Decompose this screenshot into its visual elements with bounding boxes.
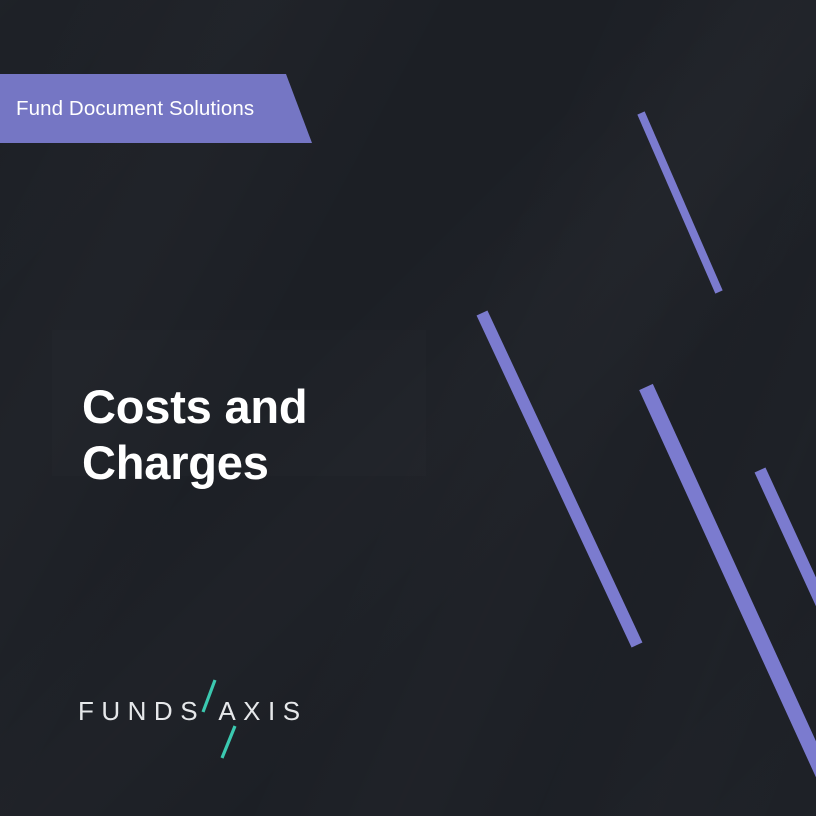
stripe-1 bbox=[641, 113, 719, 292]
presentation-slide: Fund Document Solutions Costs and Charge… bbox=[0, 0, 816, 816]
funds-axis-logo: FUNDS AXIS bbox=[78, 668, 378, 760]
teal-slash-upper bbox=[203, 680, 215, 712]
tagline-banner: Fund Document Solutions bbox=[0, 74, 312, 143]
logo-teal-slash-icon bbox=[78, 668, 378, 760]
slide-title: Costs and Charges bbox=[82, 379, 512, 491]
stripe-4 bbox=[760, 470, 816, 655]
tagline-banner-label: Fund Document Solutions bbox=[0, 97, 254, 121]
stripe-3 bbox=[646, 387, 816, 790]
teal-slash-lower bbox=[222, 726, 235, 758]
